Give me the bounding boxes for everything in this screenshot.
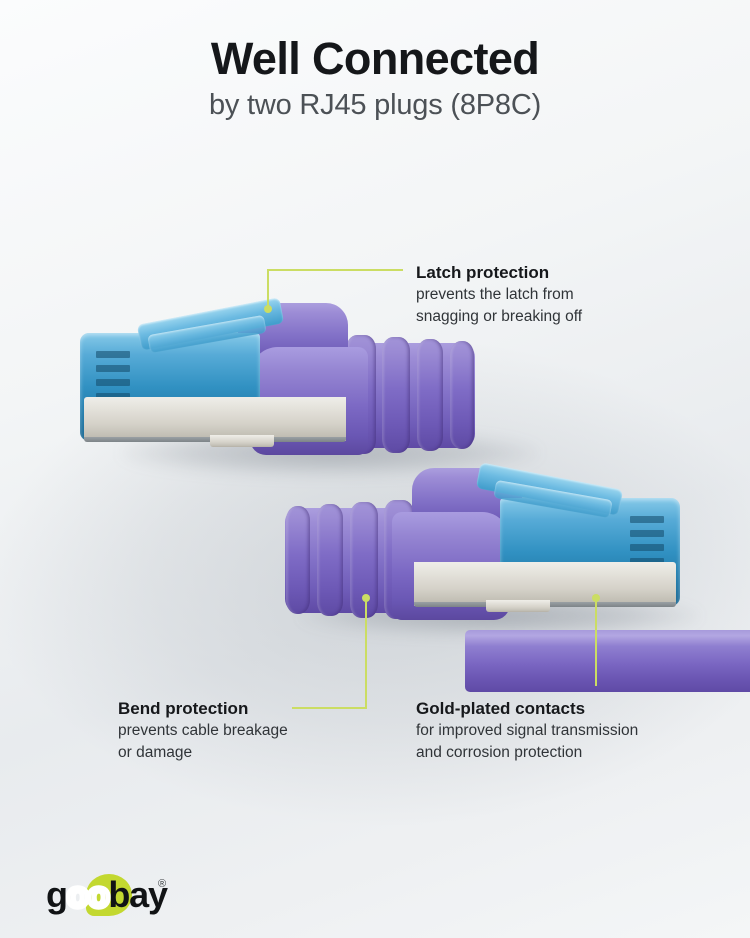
callout-gold-title: Gold-plated contacts — [416, 698, 638, 720]
logo-wordmark: goobay — [46, 876, 167, 914]
callout-bend-body: prevents cable breakage or damage — [118, 720, 288, 763]
callout-bend-title: Bend protection — [118, 698, 288, 720]
callout-gold-body: for improved signal transmission and cor… — [416, 720, 638, 763]
page-subtitle: by two RJ45 plugs (8P8C) — [0, 83, 750, 122]
contact-slot — [630, 516, 664, 523]
callout-bend-protection: Bend protection prevents cable breakage … — [118, 698, 288, 763]
latch-leader-vertical — [267, 269, 269, 309]
contact-slot — [630, 530, 664, 537]
bend-leader-horizontal — [292, 707, 367, 709]
gold-leader-vertical — [595, 598, 597, 686]
callout-latch-body: prevents the latch from snagging or brea… — [416, 284, 582, 327]
contact-slot — [630, 544, 664, 551]
infographic-page: Well Connected by two RJ45 plugs (8P8C) — [0, 0, 750, 938]
contact-slot — [96, 365, 130, 372]
bend-leader-vertical — [365, 598, 367, 709]
contact-slot — [96, 351, 130, 358]
logo-letters-oo: oo — [67, 874, 109, 915]
contact-slot — [96, 379, 130, 386]
latch-leader-horizontal — [267, 269, 403, 271]
rj45-plug-top — [60, 285, 750, 460]
shield-tab-bottom — [486, 600, 550, 612]
header: Well Connected by two RJ45 plugs (8P8C) — [0, 0, 750, 122]
page-title: Well Connected — [0, 0, 750, 83]
goobay-logo: goobay ® — [46, 872, 196, 918]
cable-jacket-top — [465, 630, 750, 692]
callout-gold-plated-contacts: Gold-plated contacts for improved signal… — [416, 698, 638, 763]
callout-latch-title: Latch protection — [416, 262, 582, 284]
logo-letter-g: g — [46, 874, 67, 915]
registered-trademark-symbol: ® — [158, 878, 166, 890]
callout-latch-protection: Latch protection prevents the latch from… — [416, 262, 582, 327]
shield-tab-top — [210, 435, 274, 447]
